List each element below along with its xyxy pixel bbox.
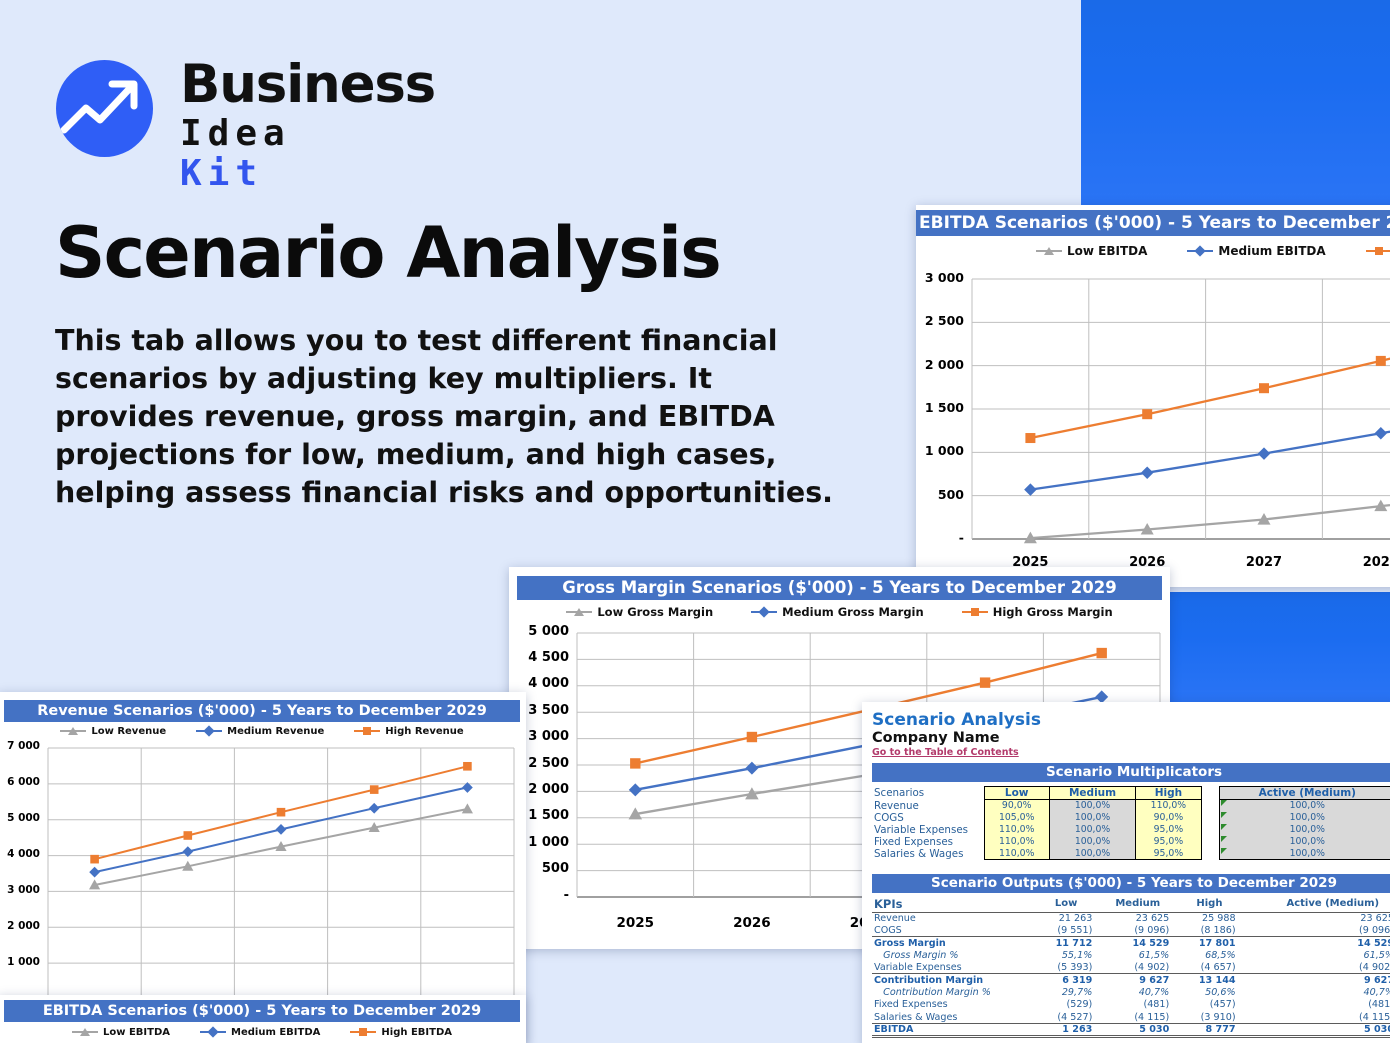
chart-legend-ebitda: Low EBITDA Medium EBITDA High EBITDA — [916, 241, 1390, 261]
table-of-contents-link[interactable]: Go to the Table of Contents — [872, 747, 1019, 758]
series-marker — [1375, 427, 1388, 440]
series-marker — [1025, 433, 1035, 443]
series-marker — [630, 758, 640, 768]
brand-name-idea: Idea — [180, 113, 291, 154]
legend-label: Low EBITDA — [103, 1027, 170, 1038]
legend-marker-triangle-icon — [1036, 246, 1062, 256]
column-header-high[interactable]: High — [1136, 787, 1201, 800]
cell-high: 68,5% — [1181, 949, 1247, 961]
cell-medium[interactable]: 100,0% — [1049, 848, 1135, 860]
cell-low: (5 393) — [1038, 962, 1104, 974]
column-header-high: High — [1181, 896, 1247, 912]
chart-title-revenue: Revenue Scenarios ($'000) - 5 Years to D… — [4, 700, 520, 722]
panel-company-name: Company Name — [872, 730, 1000, 746]
row-label: Salaries & Wages — [872, 1011, 1022, 1023]
legend-label: Low Revenue — [91, 726, 166, 737]
row-label: Contribution Margin % — [872, 986, 1022, 998]
cell-active: (481) — [1270, 999, 1390, 1011]
row-label: EBITDA — [872, 1024, 1022, 1037]
y-axis-tick-label: 4 000 — [509, 676, 569, 691]
band-scenario-multiplicators: Scenario Multiplicators — [872, 763, 1390, 782]
y-axis-tick-label: 4 500 — [509, 650, 569, 665]
series-marker — [369, 803, 380, 814]
series-marker — [184, 831, 193, 840]
cell-medium: (4 902) — [1104, 962, 1181, 974]
cell-medium: (9 096) — [1104, 924, 1181, 936]
legend-item-medium-ebitda: Medium EBITDA — [1187, 244, 1325, 258]
cell-active: 14 529 — [1270, 937, 1390, 949]
legend-item-medium-revenue: Medium Revenue — [196, 726, 324, 737]
growth-arrow-icon — [56, 60, 153, 157]
brand-name-primary: Business — [180, 56, 436, 114]
page-description: This tab allows you to test different fi… — [55, 322, 855, 512]
row-label: Fixed Expenses — [872, 836, 984, 848]
cell-high: 25 988 — [1181, 912, 1247, 924]
table-row: Contribution Margin %29,7%40,7%50,6%40,7… — [872, 986, 1390, 998]
table-row: Revenue90,0%100,0%110,0%100,0% — [872, 800, 1390, 812]
y-axis-tick-label: 1 500 — [916, 400, 964, 415]
series-line — [1030, 494, 1390, 538]
cell-medium: 40,7% — [1104, 986, 1181, 998]
cell-active: 23 625 — [1270, 912, 1390, 924]
cell-active: 61,5% — [1270, 949, 1390, 961]
series-marker — [747, 732, 757, 742]
legend-marker-diamond-icon — [196, 726, 222, 736]
legend-marker-diamond-icon — [1187, 246, 1213, 256]
table-row: EBITDA1 2635 0308 7775 030 — [872, 1024, 1390, 1037]
cell-active: (4 902) — [1270, 962, 1390, 974]
cell-high: 50,6% — [1181, 986, 1247, 998]
cell-medium[interactable]: 100,0% — [1049, 836, 1135, 848]
y-axis-tick-label: 5 000 — [0, 812, 40, 824]
table-row: Gross Margin %55,1%61,5%68,5%61,5% — [872, 949, 1390, 961]
legend-marker-square-icon — [962, 607, 988, 617]
legend-item-high-revenue: High Revenue — [354, 726, 463, 737]
column-header-kpis: KPIs — [872, 896, 1022, 912]
panel-title: Scenario Analysis — [872, 710, 1041, 730]
legend-label: High Revenue — [385, 726, 463, 737]
decorative-blue-block-top — [1081, 0, 1390, 205]
cell-active: 9 627 — [1270, 974, 1390, 986]
series-marker — [1142, 409, 1152, 419]
column-header-active: Active (Medium) — [1270, 896, 1390, 912]
cell-active: 5 030 — [1270, 1024, 1390, 1037]
series-marker — [745, 762, 758, 775]
cell-low[interactable]: 110,0% — [984, 824, 1049, 836]
table-row: COGS105,0%100,0%90,0%100,0% — [872, 812, 1390, 824]
cell-low: 21 263 — [1038, 912, 1104, 924]
cell-medium: (481) — [1104, 999, 1181, 1011]
chart-title-ebitda: EBITDA Scenarios ($'000) - 5 Years to De… — [916, 210, 1390, 236]
y-axis-tick-label: 500 — [916, 487, 964, 502]
cell-medium[interactable]: 100,0% — [1049, 800, 1135, 812]
y-axis-tick-label: 2 000 — [916, 357, 964, 372]
brand-name-kit: Kit — [180, 153, 263, 194]
chart-title-gross-margin: Gross Margin Scenarios ($'000) - 5 Years… — [517, 576, 1162, 600]
table-header-row: ScenariosLowMediumHighActive (Medium) — [872, 787, 1390, 800]
y-axis-tick-label: 2 500 — [916, 313, 964, 328]
brand-logo: Business Idea Kit — [56, 56, 436, 156]
slide-canvas: Business Idea Kit Scenario Analysis This… — [0, 0, 1390, 1043]
series-marker — [463, 762, 472, 771]
column-header-low: Low — [1038, 896, 1104, 912]
cell-medium: 5 030 — [1104, 1024, 1181, 1037]
decorative-blue-block-middle — [1170, 592, 1390, 702]
cell-medium: 14 529 — [1104, 937, 1181, 949]
legend-marker-diamond-icon — [751, 607, 777, 617]
legend-item-high-ebitda: High EBITDA — [1366, 244, 1390, 258]
y-axis-tick-label: 6 000 — [0, 776, 40, 788]
cell-high: 17 801 — [1181, 937, 1247, 949]
chart-plot-ebitda: -5001 0001 5002 0002 5003 00020252026202… — [916, 271, 1390, 587]
cell-high: (4 657) — [1181, 962, 1247, 974]
series-marker — [1024, 483, 1037, 496]
y-axis-tick-label: 3 000 — [916, 270, 964, 285]
cell-low: (9 551) — [1038, 924, 1104, 936]
cell-low: (4 527) — [1038, 1011, 1104, 1023]
cell-medium[interactable]: 100,0% — [1049, 824, 1135, 836]
cell-medium[interactable]: 100,0% — [1049, 812, 1135, 824]
row-label: Fixed Expenses — [872, 999, 1022, 1011]
y-axis-tick-label: 1 000 — [916, 443, 964, 458]
series-marker — [90, 855, 99, 864]
cell-active: 100,0% — [1219, 824, 1390, 836]
y-axis-tick-label: 4 000 — [0, 848, 40, 860]
legend-label: High EBITDA — [381, 1027, 452, 1038]
cell-low: 1 263 — [1038, 1024, 1104, 1037]
series-marker — [1259, 383, 1269, 393]
cell-active: 100,0% — [1219, 800, 1390, 812]
cell-low: 55,1% — [1038, 949, 1104, 961]
series-marker — [1097, 648, 1107, 658]
legend-marker-square-icon — [354, 726, 380, 736]
cell-high: (457) — [1181, 999, 1247, 1011]
legend-item-low-revenue: Low Revenue — [60, 726, 166, 737]
row-label: Revenue — [872, 912, 1022, 924]
chart-title-ebitda-bottom: EBITDA Scenarios ($'000) - 5 Years to De… — [4, 1000, 520, 1022]
table-row: Gross Margin11 71214 52917 80114 529 — [872, 937, 1390, 949]
cell-medium: 61,5% — [1104, 949, 1181, 961]
table-row: Variable Expenses(5 393)(4 902)(4 657)(4… — [872, 962, 1390, 974]
cell-high[interactable]: 95,0% — [1136, 824, 1201, 836]
series-marker — [1376, 356, 1386, 366]
legend-item-medium-gross-margin: Medium Gross Margin — [751, 605, 924, 619]
cell-low: 29,7% — [1038, 986, 1104, 998]
y-axis-tick-label: 5 000 — [509, 624, 569, 639]
legend-marker-square-icon — [1366, 246, 1390, 256]
cell-active: (4 115) — [1270, 1011, 1390, 1023]
legend-marker-triangle-icon — [72, 1027, 98, 1037]
chart-card-ebitda-bottom: EBITDA Scenarios ($'000) - 5 Years to De… — [0, 995, 526, 1043]
cell-active: (9 096) — [1270, 924, 1390, 936]
cell-low[interactable]: 105,0% — [984, 812, 1049, 824]
table-row: Salaries & Wages(4 527)(4 115)(3 910)(4 … — [872, 1011, 1390, 1023]
cell-low[interactable]: 110,0% — [984, 836, 1049, 848]
y-axis-tick-label: 3 000 — [0, 884, 40, 896]
legend-label: Medium Gross Margin — [782, 605, 924, 619]
table-row: Fixed Expenses110,0%100,0%95,0%100,0% — [872, 836, 1390, 848]
cell-medium: (4 115) — [1104, 1011, 1181, 1023]
row-label: COGS — [872, 924, 1022, 936]
cell-low: 11 712 — [1038, 937, 1104, 949]
x-axis-tick-label: 2028 — [1341, 555, 1390, 570]
cell-high: (3 910) — [1181, 1011, 1247, 1023]
cell-low[interactable]: 110,0% — [984, 848, 1049, 860]
legend-marker-triangle-icon — [60, 726, 86, 736]
series-marker — [980, 677, 990, 687]
band-scenario-outputs: Scenario Outputs ($'000) - 5 Years to De… — [872, 874, 1390, 893]
cell-high[interactable]: 90,0% — [1136, 812, 1201, 824]
legend-item-medium-ebitda: Medium EBITDA — [200, 1027, 320, 1038]
legend-marker-diamond-icon — [200, 1027, 226, 1037]
row-label: Variable Expenses — [872, 962, 1022, 974]
y-axis-tick-label: 2 000 — [0, 920, 40, 932]
chart-legend-revenue: Low Revenue Medium Revenue High Revenue — [4, 722, 520, 740]
series-marker — [277, 808, 286, 817]
x-axis-tick-label: 2027 — [1224, 555, 1304, 570]
cell-high[interactable]: 95,0% — [1136, 836, 1201, 848]
series-marker — [276, 824, 287, 835]
series-marker — [1258, 447, 1271, 460]
cell-high: 8 777 — [1181, 1024, 1247, 1037]
row-label: Contribution Margin — [872, 974, 1022, 986]
table-scenario-multiplicators: ScenariosLowMediumHighActive (Medium)Rev… — [872, 786, 1390, 860]
legend-label: Medium Revenue — [227, 726, 324, 737]
series-line — [1030, 413, 1390, 489]
chart-card-revenue: Revenue Scenarios ($'000) - 5 Years to D… — [0, 692, 526, 1043]
legend-item-low-gross-margin: Low Gross Margin — [566, 605, 713, 619]
row-label: Salaries & Wages — [872, 848, 984, 860]
table-row: COGS(9 551)(9 096)(8 186)(9 096) — [872, 924, 1390, 936]
legend-item-high-gross-margin: High Gross Margin — [962, 605, 1113, 619]
cell-high: (8 186) — [1181, 924, 1247, 936]
x-axis-tick-label: 2025 — [595, 915, 675, 931]
legend-item-low-ebitda: Low EBITDA — [72, 1027, 170, 1038]
chart-legend-gross-margin: Low Gross Margin Medium Gross Margin Hig… — [517, 602, 1162, 622]
table-row: Fixed Expenses(529)(481)(457)(481) — [872, 999, 1390, 1011]
cell-active: 100,0% — [1219, 812, 1390, 824]
series-marker — [370, 785, 379, 794]
table-row: Salaries & Wages110,0%100,0%95,0%100,0% — [872, 848, 1390, 860]
scenario-analysis-panel: Scenario Analysis Company Name Go to the… — [862, 702, 1390, 1043]
cell-medium: 23 625 — [1104, 912, 1181, 924]
chart-legend-ebitda-bottom: Low EBITDA Medium EBITDA High EBITDA — [4, 1023, 520, 1041]
cell-high[interactable]: 110,0% — [1136, 800, 1201, 812]
legend-label: High Gross Margin — [993, 605, 1113, 619]
chart-card-ebitda: EBITDA Scenarios ($'000) - 5 Years to De… — [916, 205, 1390, 587]
column-header-active: Active (Medium) — [1219, 787, 1390, 800]
row-label: COGS — [872, 812, 984, 824]
cell-high: 13 144 — [1181, 974, 1247, 986]
cell-active: 40,7% — [1270, 986, 1390, 998]
row-label: Gross Margin — [872, 937, 1022, 949]
table-row: Contribution Margin6 3199 62713 1449 627 — [872, 974, 1390, 986]
y-axis-tick-label: 7 000 — [0, 740, 40, 752]
legend-label: Low Gross Margin — [597, 605, 713, 619]
series-marker — [89, 867, 100, 878]
row-label: Revenue — [872, 800, 984, 812]
cell-high[interactable]: 95,0% — [1136, 848, 1201, 860]
row-label: Variable Expenses — [872, 824, 984, 836]
legend-marker-square-icon — [350, 1027, 376, 1037]
series-line — [1030, 333, 1390, 438]
column-header-scenarios: Scenarios — [872, 787, 984, 800]
cell-medium: 9 627 — [1104, 974, 1181, 986]
cell-low[interactable]: 90,0% — [984, 800, 1049, 812]
cell-low: 6 319 — [1038, 974, 1104, 986]
y-axis-tick-label: 1 000 — [0, 956, 40, 968]
table-row: Variable Expenses110,0%100,0%95,0%100,0% — [872, 824, 1390, 836]
cell-active: 100,0% — [1219, 836, 1390, 848]
column-header-low[interactable]: Low — [984, 787, 1049, 800]
legend-label: Low EBITDA — [1067, 244, 1147, 258]
legend-label: Medium EBITDA — [1218, 244, 1325, 258]
page-title: Scenario Analysis — [55, 212, 720, 294]
cell-low: (529) — [1038, 999, 1104, 1011]
series-marker — [462, 803, 473, 813]
table-header-row: KPIsLowMediumHighActive (Medium) — [872, 896, 1390, 912]
y-axis-tick-label: - — [916, 530, 964, 545]
table-scenario-outputs: KPIsLowMediumHighActive (Medium)Revenue2… — [872, 896, 1390, 1038]
series-marker — [629, 783, 642, 796]
legend-item-high-ebitda: High EBITDA — [350, 1027, 452, 1038]
series-marker — [1141, 466, 1154, 479]
legend-marker-triangle-icon — [566, 607, 592, 617]
column-header-medium: Medium — [1104, 896, 1181, 912]
table-row: Revenue21 26323 62525 98823 625 — [872, 912, 1390, 924]
x-axis-tick-label: 2026 — [712, 915, 792, 931]
row-label: Gross Margin % — [872, 949, 1022, 961]
cell-active: 100,0% — [1219, 848, 1390, 860]
legend-item-low-ebitda: Low EBITDA — [1036, 244, 1147, 258]
column-header-medium[interactable]: Medium — [1049, 787, 1135, 800]
legend-label: Medium EBITDA — [231, 1027, 320, 1038]
chart-svg — [916, 271, 1390, 587]
